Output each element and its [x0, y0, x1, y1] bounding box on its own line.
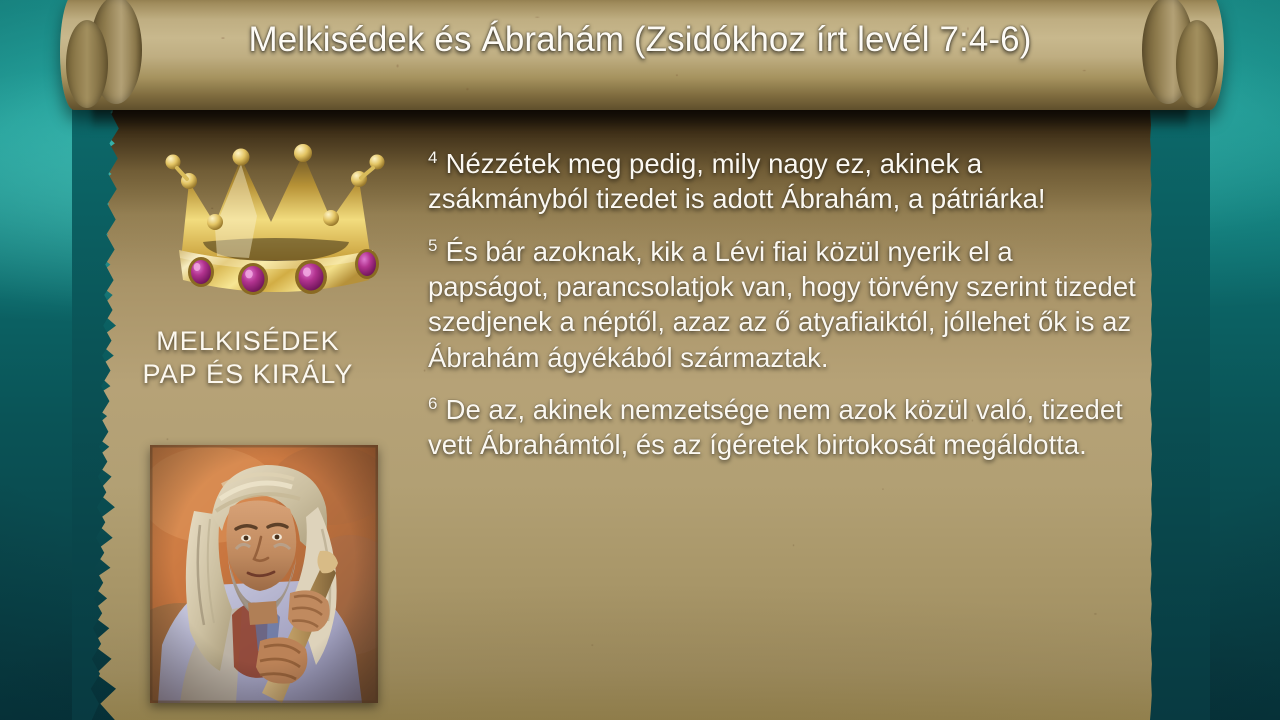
verse-text: Nézzétek meg pedig, mily nagy ez, akinek… — [428, 148, 1046, 214]
melkisedek-portrait — [150, 445, 378, 703]
verse-number: 6 — [428, 394, 438, 413]
verse-item: 6 De az, akinek nemzetsége nem azok közü… — [428, 392, 1140, 463]
verse-item: 4 Nézzétek meg pedig, mily nagy ez, akin… — [428, 146, 1140, 217]
crown-icon — [145, 138, 405, 308]
verse-text: De az, akinek nemzetsége nem azok közül … — [428, 394, 1123, 460]
verse-list: 4 Nézzétek meg pedig, mily nagy ez, akin… — [428, 146, 1140, 463]
verse-number: 4 — [428, 148, 438, 167]
verse-number: 5 — [428, 236, 438, 255]
caption-line-2: PAP ÉS KIRÁLY — [88, 358, 408, 391]
verse-text: És bár azoknak, kik a Lévi fiai közül ny… — [428, 236, 1136, 373]
page-title: Melkisédek és Ábrahám (Zsidókhoz írt lev… — [0, 20, 1280, 60]
slide-canvas: Melkisédek és Ábrahám (Zsidókhoz írt lev… — [0, 0, 1280, 720]
sidebar-caption: MELKISÉDEK PAP ÉS KIRÁLY — [88, 325, 408, 391]
scroll-right-torn-edge — [1150, 96, 1210, 720]
verse-item: 5 És bár azoknak, kik a Lévi fiai közül … — [428, 234, 1140, 375]
caption-line-1: MELKISÉDEK — [88, 325, 408, 358]
